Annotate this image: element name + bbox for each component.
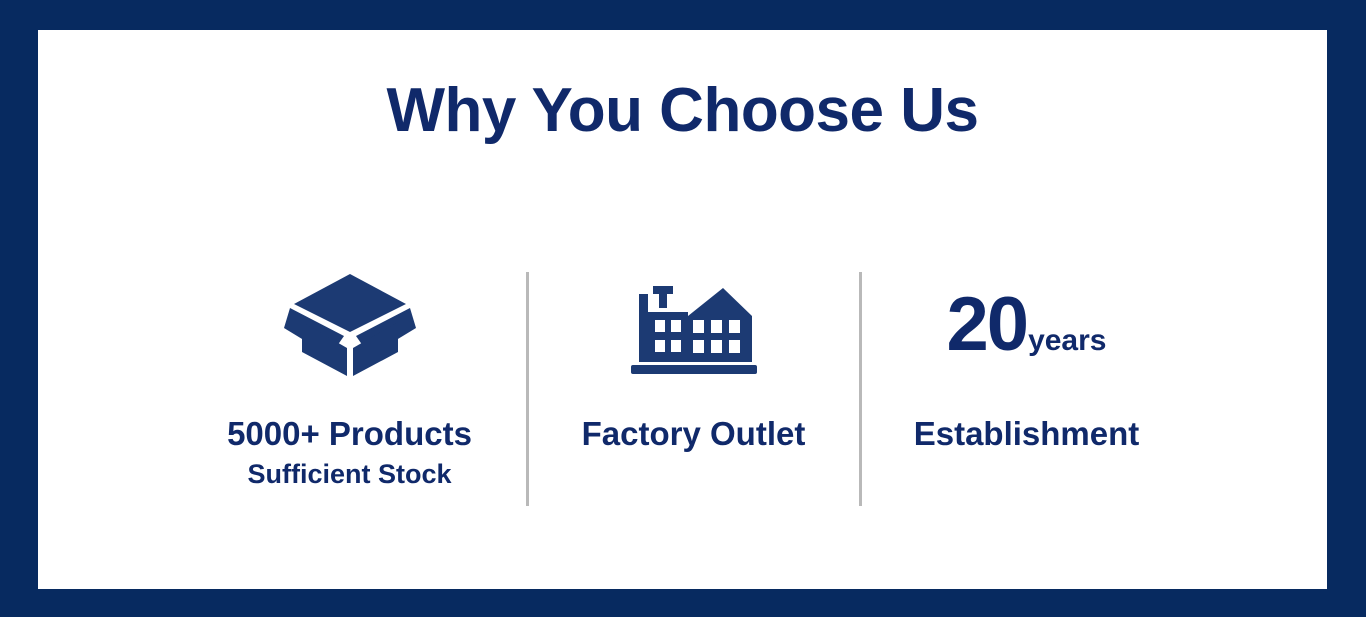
feature-label: Factory Outlet bbox=[582, 416, 806, 452]
feature-label: Establishment bbox=[914, 416, 1140, 452]
page-title: Why You Choose Us bbox=[38, 78, 1327, 143]
years-badge: 20 years bbox=[862, 262, 1192, 388]
years-unit-label: years bbox=[1028, 326, 1106, 356]
feature-factory: Factory Outlet bbox=[529, 262, 859, 506]
open-box-icon bbox=[174, 262, 526, 388]
feature-sublabel: Sufficient Stock bbox=[247, 460, 451, 490]
white-card: Why You Choose Us bbox=[38, 30, 1327, 589]
feature-label: 5000+ Products bbox=[227, 416, 472, 452]
features-row: 5000+ Products Sufficient Stock bbox=[158, 262, 1207, 506]
feature-products: 5000+ Products Sufficient Stock bbox=[174, 262, 526, 506]
years-number: 20 bbox=[947, 287, 1028, 363]
factory-icon bbox=[529, 262, 859, 388]
years-value: 20 years bbox=[947, 287, 1107, 363]
navy-frame: Why You Choose Us bbox=[0, 0, 1366, 617]
feature-establishment: 20 years Establishment bbox=[862, 262, 1192, 506]
